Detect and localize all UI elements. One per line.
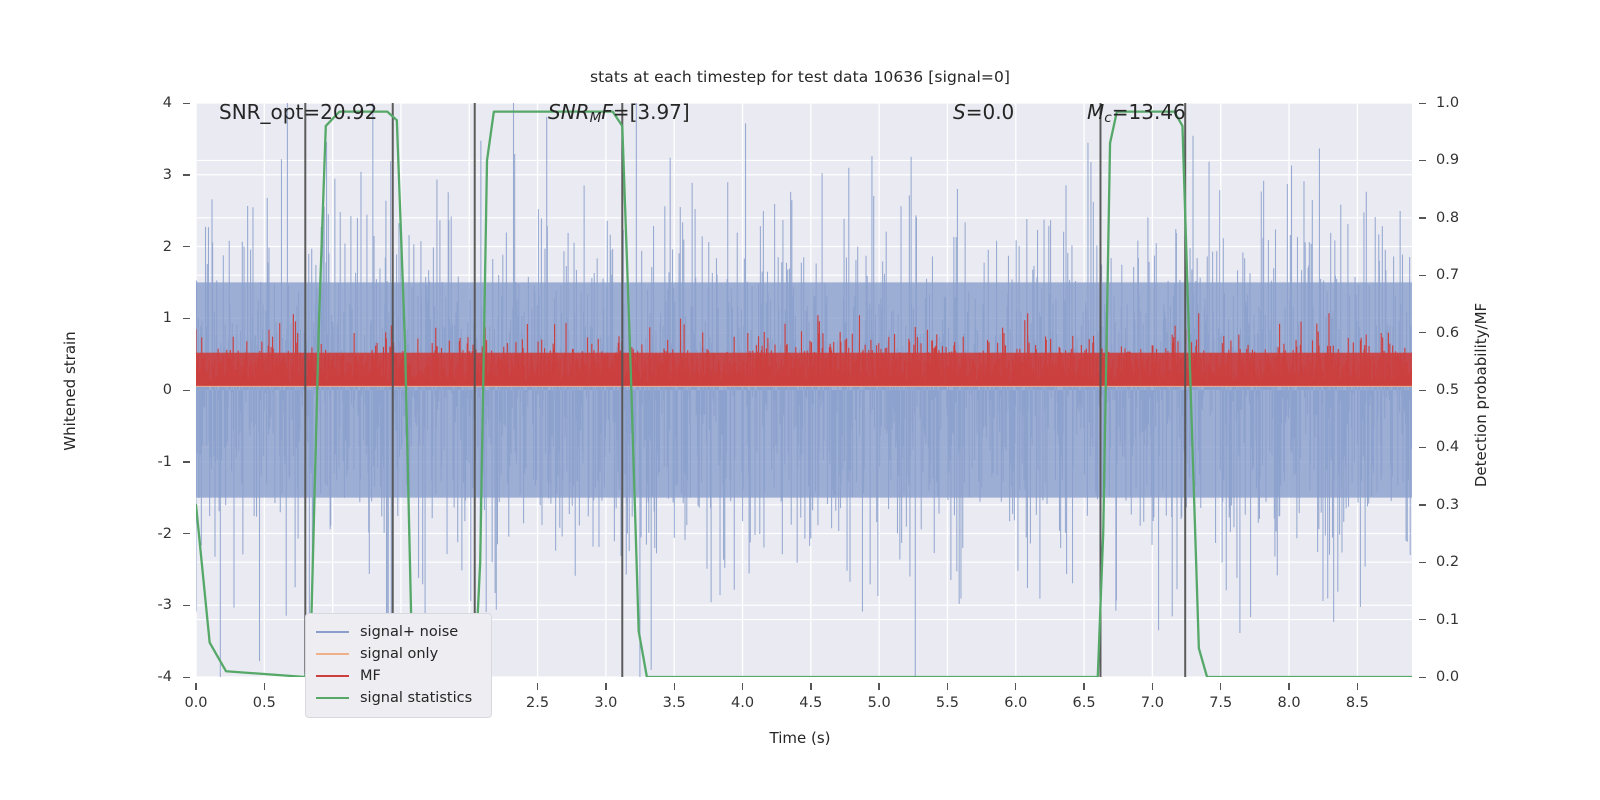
legend-item-2[interactable]: MF (316, 665, 481, 687)
chart-title: stats at each timestep for test data 106… (0, 68, 1600, 86)
x-tick-mark-17 (1357, 683, 1358, 690)
series-signal-plus-noise (196, 103, 1412, 677)
x-tick-1: 0.5 (253, 695, 276, 711)
y-tick-mark-left-2 (183, 246, 190, 247)
x-tick-8: 4.0 (731, 695, 754, 711)
x-tick-mark-7 (674, 683, 675, 690)
legend-item-0[interactable]: signal+ noise (316, 621, 481, 643)
x-tick-mark-16 (1288, 683, 1289, 690)
y-tick-mark-left-5 (183, 461, 190, 462)
y-tick-mark-left-6 (183, 533, 190, 534)
y-tick-right-4: 0.6 (1436, 325, 1459, 341)
y-tick-right-9: 0.1 (1436, 612, 1459, 628)
y-tick-right-1: 0.9 (1436, 152, 1459, 168)
annotation-chirp-mass: Mc=13.46 (1087, 100, 1186, 126)
annotation-snr-opt: SNR_opt=20.92 (219, 100, 377, 124)
y-axis-right-label: Detection probability/MF (1472, 245, 1490, 545)
figure-canvas: stats at each timestep for test data 106… (0, 0, 1600, 800)
y-tick-mark-right-9 (1419, 619, 1426, 620)
x-tick-9: 4.5 (799, 695, 822, 711)
y-tick-mark-right-0 (1419, 103, 1426, 104)
x-tick-15: 7.5 (1209, 695, 1232, 711)
legend-label-3: signal statistics (360, 690, 472, 706)
x-tick-mark-8 (742, 683, 743, 690)
annotation-snr-mf: SNRMF=[3.97] (548, 100, 690, 126)
y-tick-right-5: 0.5 (1436, 382, 1459, 398)
x-tick-mark-5 (537, 683, 538, 690)
x-tick-mark-10 (878, 683, 879, 690)
x-tick-11: 5.5 (936, 695, 959, 711)
x-tick-mark-14 (1152, 683, 1153, 690)
y-tick-mark-right-10 (1419, 677, 1426, 678)
x-tick-16: 8.0 (1278, 695, 1301, 711)
legend-label-2: MF (360, 668, 381, 684)
x-tick-mark-11 (947, 683, 948, 690)
x-tick-mark-13 (1083, 683, 1084, 690)
legend-item-3[interactable]: signal statistics (316, 687, 481, 709)
x-tick-6: 3.0 (594, 695, 617, 711)
y-tick-mark-left-7 (183, 605, 190, 606)
y-tick-right-2: 0.8 (1436, 210, 1459, 226)
x-tick-13: 6.5 (1073, 695, 1096, 711)
y-tick-mark-left-4 (183, 390, 190, 391)
x-tick-mark-12 (1015, 683, 1016, 690)
legend-label-0: signal+ noise (360, 624, 458, 640)
legend-label-1: signal only (360, 646, 438, 662)
legend-item-1[interactable]: signal only (316, 643, 481, 665)
chart-legend: signal+ noisesignal onlyMFsignal statist… (305, 613, 492, 718)
y-tick-left-0: 4 (0, 95, 172, 111)
y-tick-right-7: 0.3 (1436, 497, 1459, 513)
x-tick-mark-15 (1220, 683, 1221, 690)
y-tick-mark-left-3 (183, 318, 190, 319)
y-tick-left-3: 1 (0, 310, 172, 326)
y-tick-left-7: -3 (0, 597, 172, 613)
y-tick-left-2: 2 (0, 239, 172, 255)
y-tick-mark-right-8 (1419, 562, 1426, 563)
x-tick-mark-9 (810, 683, 811, 690)
y-tick-left-5: -1 (0, 454, 172, 470)
x-tick-14: 7.0 (1141, 695, 1164, 711)
y-tick-mark-right-3 (1419, 275, 1426, 276)
y-tick-right-0: 1.0 (1436, 95, 1459, 111)
legend-swatch-icon-1 (316, 653, 349, 655)
y-tick-mark-left-8 (183, 677, 190, 678)
y-tick-left-8: -4 (0, 669, 172, 685)
y-tick-right-3: 0.7 (1436, 267, 1459, 283)
x-tick-7: 3.5 (663, 695, 686, 711)
x-tick-5: 2.5 (526, 695, 549, 711)
plot-area (196, 103, 1412, 677)
x-tick-17: 8.5 (1346, 695, 1369, 711)
plot-canvas (196, 103, 1412, 677)
y-tick-right-8: 0.2 (1436, 554, 1459, 570)
y-tick-mark-right-7 (1419, 504, 1426, 505)
legend-swatch-icon-0 (316, 631, 349, 633)
y-tick-mark-right-5 (1419, 390, 1426, 391)
y-tick-right-6: 0.4 (1436, 439, 1459, 455)
y-tick-left-1: 3 (0, 167, 172, 183)
y-tick-left-6: -2 (0, 526, 172, 542)
y-tick-right-10: 0.0 (1436, 669, 1459, 685)
y-tick-mark-left-1 (183, 174, 190, 175)
y-tick-mark-right-4 (1419, 332, 1426, 333)
x-tick-0: 0.0 (184, 695, 207, 711)
annotation-s-value: S=0.0 (953, 100, 1014, 124)
x-tick-mark-0 (195, 683, 196, 690)
x-tick-10: 5.0 (868, 695, 891, 711)
y-tick-mark-right-1 (1419, 160, 1426, 161)
y-tick-mark-right-2 (1419, 217, 1426, 218)
legend-swatch-icon-3 (316, 697, 349, 699)
y-tick-mark-right-6 (1419, 447, 1426, 448)
legend-swatch-icon-2 (316, 675, 349, 677)
x-tick-mark-6 (605, 683, 606, 690)
x-tick-mark-1 (264, 683, 265, 690)
x-axis-label: Time (s) (0, 729, 1600, 747)
x-tick-12: 6.0 (1004, 695, 1027, 711)
y-tick-left-4: 0 (0, 382, 172, 398)
y-tick-mark-left-0 (183, 103, 190, 104)
